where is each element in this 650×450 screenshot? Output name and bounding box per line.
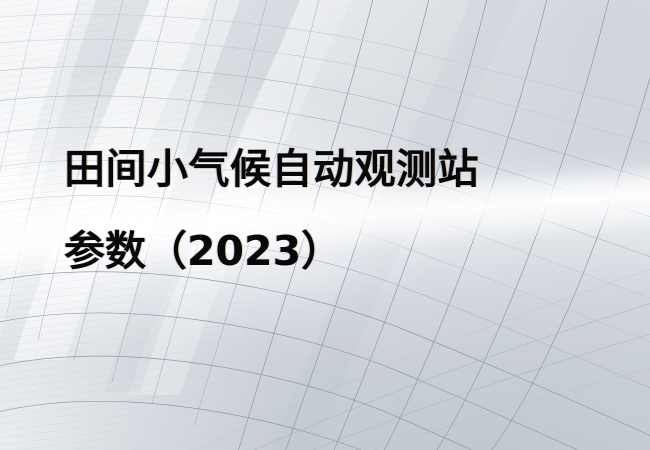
title-line-2: 参数（2023） <box>64 210 604 292</box>
title-slide: 田间小气候自动观测站 参数（2023） <box>0 0 650 450</box>
title-line-1: 田间小气候自动观测站 <box>64 128 604 210</box>
title-block: 田间小气候自动观测站 参数（2023） <box>64 128 604 292</box>
